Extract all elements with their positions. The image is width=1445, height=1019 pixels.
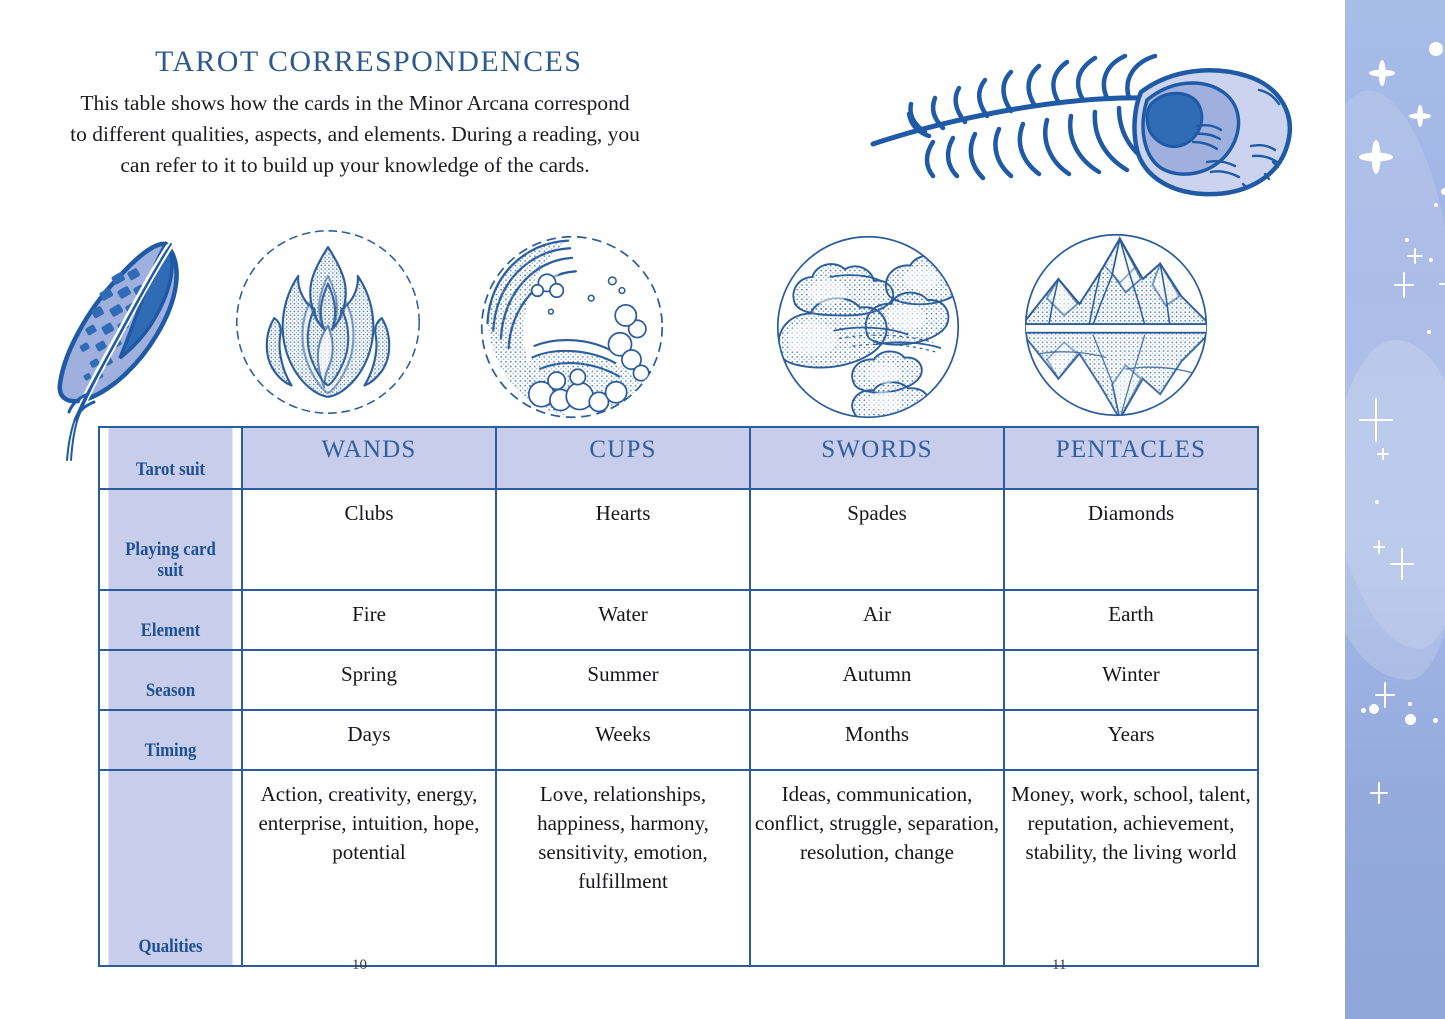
cell-playing-card-cups: Hearts (496, 489, 750, 590)
cell-timing-wands: Days (242, 710, 496, 770)
star-plus (1377, 448, 1389, 460)
column-header-swords: SWORDS (750, 427, 1004, 489)
cell-element-wands: Fire (242, 590, 496, 650)
star-plus (1439, 276, 1445, 292)
table-row-element: Element Fire Water Air Earth (99, 590, 1258, 650)
star-sparkle (1359, 140, 1393, 174)
cell-timing-pentacles: Years (1004, 710, 1258, 770)
star-dot (1427, 330, 1431, 334)
column-header-cups: CUPS (496, 427, 750, 489)
row-label-element: Element (108, 590, 234, 650)
table-row-season: Season Spring Summer Autumn Winter (99, 650, 1258, 710)
star-dot (1441, 188, 1445, 195)
column-header-pentacles: PENTACLES (1004, 427, 1258, 489)
cell-qualities-cups: Love, relationships, happiness, harmony,… (496, 770, 750, 966)
cell-playing-card-swords: Spades (750, 489, 1004, 590)
cell-element-swords: Air (750, 590, 1004, 650)
row-label-playing-card-suit: Playing card suit (108, 489, 234, 590)
cell-timing-swords: Months (750, 710, 1004, 770)
page-number-right: 11 (1052, 957, 1066, 974)
star-plus (1359, 398, 1393, 442)
row-label-text-line2: suit (112, 560, 229, 581)
fire-medallion (232, 226, 424, 418)
cell-playing-card-pentacles: Diamonds (1004, 489, 1258, 590)
cell-qualities-pentacles: Money, work, school, talent, reputation,… (1004, 770, 1258, 966)
water-medallion (476, 231, 668, 423)
tarot-correspondences-table: Tarot suit WANDS CUPS SWORDS PENTACLES P… (98, 426, 1259, 967)
row-label-text: Tarot suit (112, 459, 229, 480)
star-sparkle (1369, 60, 1395, 86)
row-label-text: Season (112, 680, 229, 701)
star-plus (1373, 540, 1385, 554)
star-dot (1433, 718, 1438, 723)
row-label-text-line1: Playing card (112, 539, 229, 560)
row-label-tarot-suit: Tarot suit (108, 427, 234, 489)
star-dot (1408, 702, 1412, 706)
panel-wash-shape-2 (1345, 340, 1445, 680)
star-dot (1361, 708, 1366, 713)
star-plus (1375, 682, 1395, 708)
cell-element-pentacles: Earth (1004, 590, 1258, 650)
cell-season-swords: Autumn (750, 650, 1004, 710)
star-plus (1407, 248, 1423, 264)
air-medallion (772, 231, 964, 423)
page-number-left: 10 (352, 957, 367, 974)
star-plus (1390, 548, 1414, 580)
intro-paragraph: This table shows how the cards in the Mi… (70, 88, 640, 181)
table-row-tarot-suit: Tarot suit WANDS CUPS SWORDS PENTACLES (99, 427, 1258, 489)
row-label-timing: Timing (108, 710, 234, 770)
star-dot (1429, 42, 1443, 56)
row-label-text: Timing (112, 740, 229, 761)
page-title: TAROT CORRESPONDENCES (155, 45, 582, 79)
cell-playing-card-wands: Clubs (242, 489, 496, 590)
earth-medallion (1020, 229, 1212, 421)
cell-timing-cups: Weeks (496, 710, 750, 770)
star-sparkle (1409, 105, 1431, 127)
table-row-qualities: Qualities Action, creativity, energy, en… (99, 770, 1258, 966)
star-dot (1405, 238, 1409, 242)
star-dot (1405, 714, 1416, 725)
star-dot (1429, 258, 1433, 262)
star-dot (1434, 203, 1438, 207)
star-plus (1394, 272, 1414, 298)
row-label-text: Element (112, 620, 229, 641)
star-dot (1375, 500, 1379, 504)
row-label-text: Qualities (112, 936, 229, 957)
column-header-wands: WANDS (242, 427, 496, 489)
cell-element-cups: Water (496, 590, 750, 650)
cell-season-pentacles: Winter (1004, 650, 1258, 710)
cell-qualities-swords: Ideas, communication, conflict, struggle… (750, 770, 1004, 966)
peacock-feather-illustration (855, 34, 1305, 214)
starfield-panel (1345, 0, 1445, 1019)
row-label-qualities: Qualities (108, 770, 234, 966)
table-row-timing: Timing Days Weeks Months Years (99, 710, 1258, 770)
cell-season-wands: Spring (242, 650, 496, 710)
page-spread: TAROT CORRESPONDENCES This table shows h… (0, 0, 1345, 1019)
star-plus (1370, 782, 1388, 804)
row-label-season: Season (108, 650, 234, 710)
star-dot (1369, 704, 1379, 714)
cell-season-cups: Summer (496, 650, 750, 710)
cell-qualities-wands: Action, creativity, energy, enterprise, … (242, 770, 496, 966)
table-row-playing-card-suit: Playing card suit Clubs Hearts Spades Di… (99, 489, 1258, 590)
